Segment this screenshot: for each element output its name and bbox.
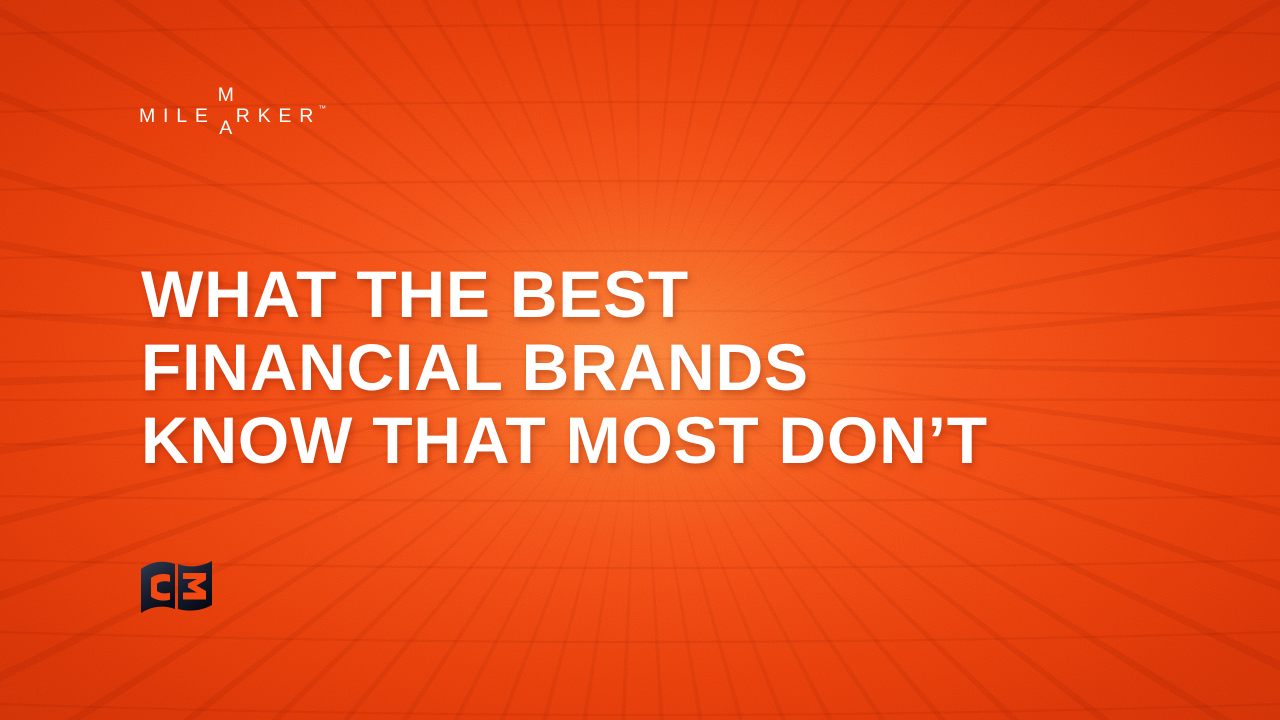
wordmark-part-two: RKER (236, 107, 321, 127)
wordmark-part-one: MILE (139, 107, 216, 127)
social-card-canvas: MILE M A RKER ™ WHAT THE BEST FINANCIAL … (0, 0, 1280, 720)
mile-marker-wordmark[interactable]: MILE M A RKER ™ (139, 103, 326, 127)
headline-line-1: WHAT THE BEST (141, 258, 1171, 331)
c3-flag-logo[interactable] (138, 558, 216, 616)
headline-line-2: FINANCIAL BRANDS (141, 331, 1171, 404)
wordmark-monogram-upper: M (218, 86, 234, 106)
headline-line-3: KNOW THAT MOST DON’T (141, 404, 1171, 477)
trademark-icon: ™ (318, 105, 326, 113)
wordmark-ma-monogram: M A (216, 103, 236, 122)
headline: WHAT THE BEST FINANCIAL BRANDS KNOW THAT… (141, 258, 1171, 477)
wordmark-monogram-lower: A (219, 119, 232, 139)
